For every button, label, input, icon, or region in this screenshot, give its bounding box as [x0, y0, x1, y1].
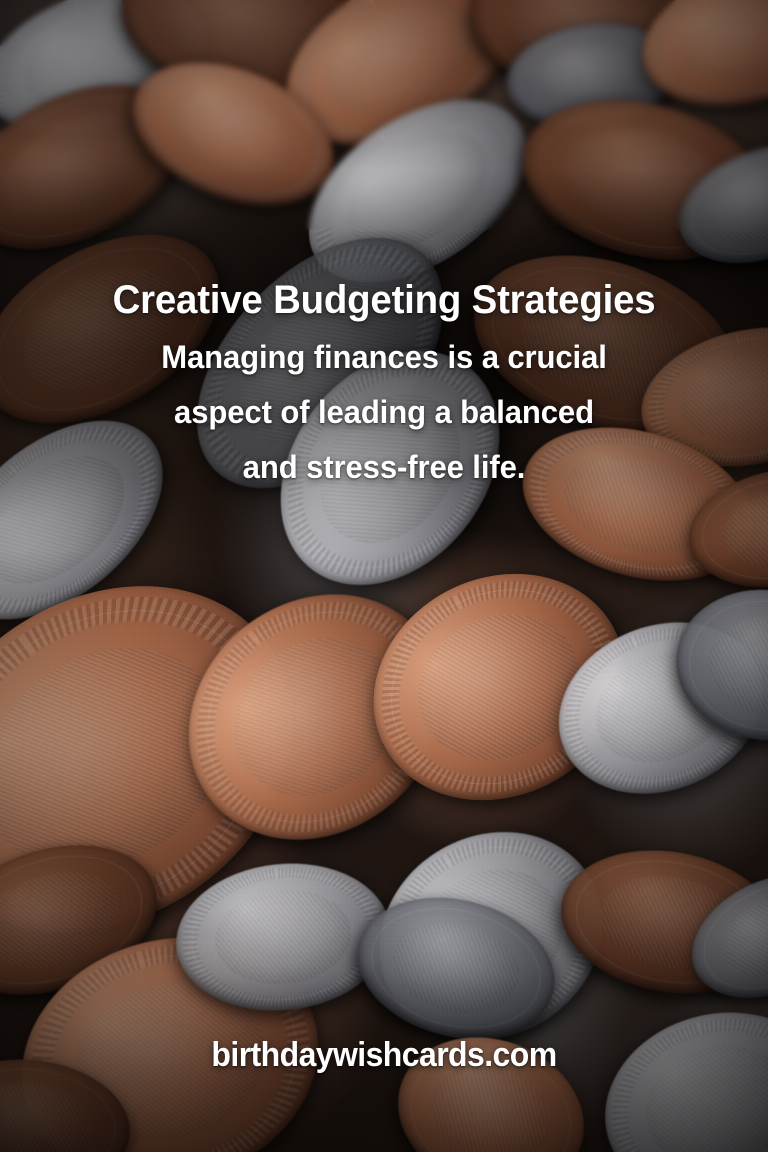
text-overlay: Creative Budgeting Strategies Managing f… [0, 0, 768, 1152]
subtitle-line-2: aspect of leading a balanced [12, 385, 757, 440]
subtitle-block: Managing finances is a crucial aspect of… [12, 330, 757, 495]
site-watermark: birthdaywishcards.com [23, 1036, 745, 1075]
subtitle-line-1: Managing finances is a crucial [12, 330, 757, 385]
subtitle-line-3: and stress-free life. [12, 440, 757, 495]
page-title: Creative Budgeting Strategies [15, 279, 752, 322]
quote-card: Creative Budgeting Strategies Managing f… [0, 0, 768, 1152]
